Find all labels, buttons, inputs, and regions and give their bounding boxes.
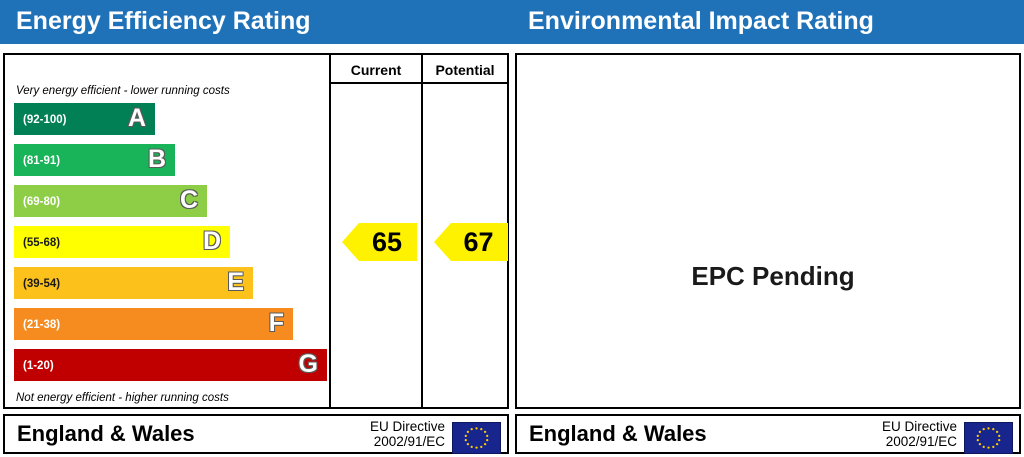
rating-band-g-range: (1-20)	[23, 349, 54, 381]
rating-band-g-letter: G	[299, 349, 318, 381]
rating-band-e-letter: E	[227, 267, 244, 299]
footer-region-label: England & Wales	[17, 421, 195, 447]
environmental-impact-title: Environmental Impact Rating	[528, 7, 874, 36]
energy-efficiency-title: Energy Efficiency Rating	[16, 7, 311, 36]
rating-band-b-range: (81-91)	[23, 144, 60, 176]
footer-directive-line1: EU Directive	[882, 419, 957, 434]
rating-band-e: (39-54) E	[14, 267, 253, 299]
footer-directive-line2: 2002/91/EC	[370, 434, 445, 449]
epc-pending-message: EPC Pending	[517, 261, 1024, 292]
rating-bands: (92-100) A (81-91) B (69-80) C (55-68) D…	[14, 103, 329, 388]
eu-flag-icon	[964, 422, 1013, 454]
environmental-impact-rating-panel: Environmental Impact Rating EPC Pending …	[512, 0, 1024, 457]
environmental-impact-chart-placeholder: EPC Pending	[515, 53, 1021, 409]
rating-band-c-letter: C	[180, 185, 198, 217]
potential-rating-value: 67	[451, 223, 506, 261]
rating-band-d-range: (55-68)	[23, 226, 60, 258]
rating-band-b: (81-91) B	[14, 144, 175, 176]
energy-efficiency-rating-panel: Energy Efficiency Rating Very energy eff…	[0, 0, 512, 457]
eu-flag-icon	[452, 422, 501, 454]
footer-directive: EU Directive 2002/91/EC	[370, 419, 445, 449]
column-divider-potential	[421, 55, 423, 407]
rating-band-d: (55-68) D	[14, 226, 230, 258]
potential-rating-arrow: 67	[434, 223, 508, 261]
rating-band-c-range: (69-80)	[23, 185, 60, 217]
energy-efficiency-chart: Very energy efficient - lower running co…	[3, 53, 509, 409]
footer-directive: EU Directive 2002/91/EC	[882, 419, 957, 449]
footer-region-label: England & Wales	[529, 421, 707, 447]
environmental-impact-title-bar: Environmental Impact Rating	[512, 0, 1024, 44]
rating-band-a-letter: A	[128, 103, 146, 135]
column-divider-current	[329, 55, 331, 407]
chart-caption-bottom: Not energy efficient - higher running co…	[16, 392, 229, 404]
energy-efficiency-footer: England & Wales EU Directive 2002/91/EC	[3, 414, 509, 454]
rating-band-f: (21-38) F	[14, 308, 293, 340]
environmental-impact-footer: England & Wales EU Directive 2002/91/EC	[515, 414, 1021, 454]
column-header-potential: Potential	[423, 60, 507, 80]
rating-band-a-range: (92-100)	[23, 103, 66, 135]
current-rating-arrow: 65	[342, 223, 417, 261]
current-rating-value: 65	[359, 223, 415, 261]
footer-directive-line1: EU Directive	[370, 419, 445, 434]
energy-efficiency-title-bar: Energy Efficiency Rating	[0, 0, 512, 44]
rating-band-d-letter: D	[203, 226, 221, 258]
column-header-current: Current	[331, 60, 421, 80]
rating-band-c: (69-80) C	[14, 185, 207, 217]
rating-band-g: (1-20) G	[14, 349, 327, 381]
rating-band-f-letter: F	[269, 308, 284, 340]
footer-directive-line2: 2002/91/EC	[882, 434, 957, 449]
column-header-rule	[329, 82, 507, 84]
rating-band-e-range: (39-54)	[23, 267, 60, 299]
rating-band-b-letter: B	[148, 144, 166, 176]
epc-certificate-graphic: Energy Efficiency Rating Very energy eff…	[0, 0, 1024, 457]
rating-band-f-range: (21-38)	[23, 308, 60, 340]
chart-caption-top: Very energy efficient - lower running co…	[16, 85, 230, 97]
rating-band-a: (92-100) A	[14, 103, 155, 135]
